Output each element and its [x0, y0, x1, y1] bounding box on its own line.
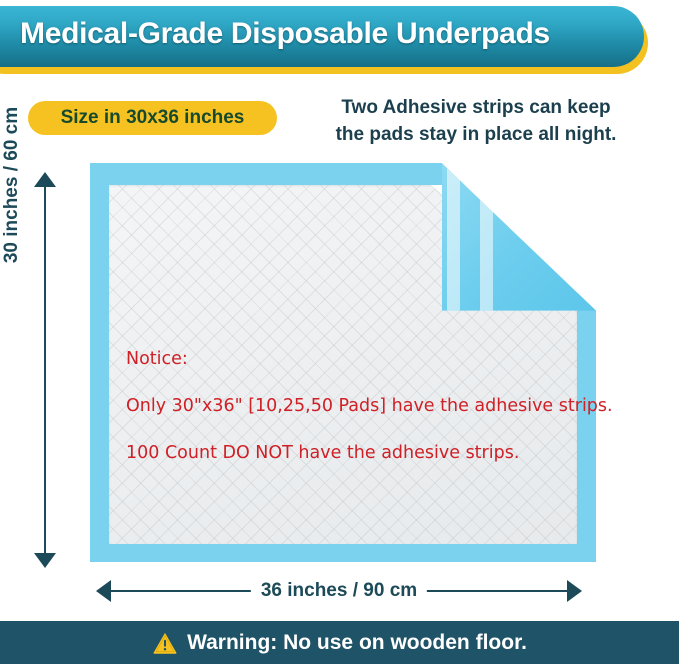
arrow-right-icon: [567, 580, 582, 602]
notice-text: Notice: Only 30"x36" [10,25,50 Pads] hav…: [126, 336, 671, 477]
notice-line-3: 100 Count DO NOT have the adhesive strip…: [126, 430, 671, 477]
page-title: Medical-Grade Disposable Underpads: [20, 17, 640, 51]
horizontal-dimension-arrow: 36 inches / 90 cm: [96, 580, 582, 602]
notice-line-1: Notice:: [126, 336, 671, 383]
notice-line-2: Only 30"x36" [10,25,50 Pads] have the ad…: [126, 383, 671, 430]
adhesive-strip-1: [447, 163, 460, 311]
adhesive-note: Two Adhesive strips can keep the pads st…: [291, 94, 661, 148]
warning-text: Warning: No use on wooden floor.: [187, 631, 527, 655]
size-badge-label: Size in 30x36 inches: [61, 107, 245, 129]
horizontal-dimension-label: 36 inches / 90 cm: [251, 580, 427, 602]
product-infographic: Medical-Grade Disposable Underpads Size …: [0, 0, 679, 664]
adhesive-note-line-2: the pads stay in place all night.: [291, 121, 661, 148]
vertical-dimension-line: [44, 184, 46, 556]
size-badge: Size in 30x36 inches: [28, 101, 277, 135]
adhesive-note-line-1: Two Adhesive strips can keep: [291, 94, 661, 121]
warning-bar: Warning: No use on wooden floor.: [0, 621, 679, 664]
vertical-dimension-arrow: [34, 172, 56, 568]
warning-triangle-icon: [152, 630, 178, 656]
vertical-dimension-label: 30 inches / 60 cm: [0, 85, 27, 285]
arrow-down-icon: [34, 553, 56, 568]
